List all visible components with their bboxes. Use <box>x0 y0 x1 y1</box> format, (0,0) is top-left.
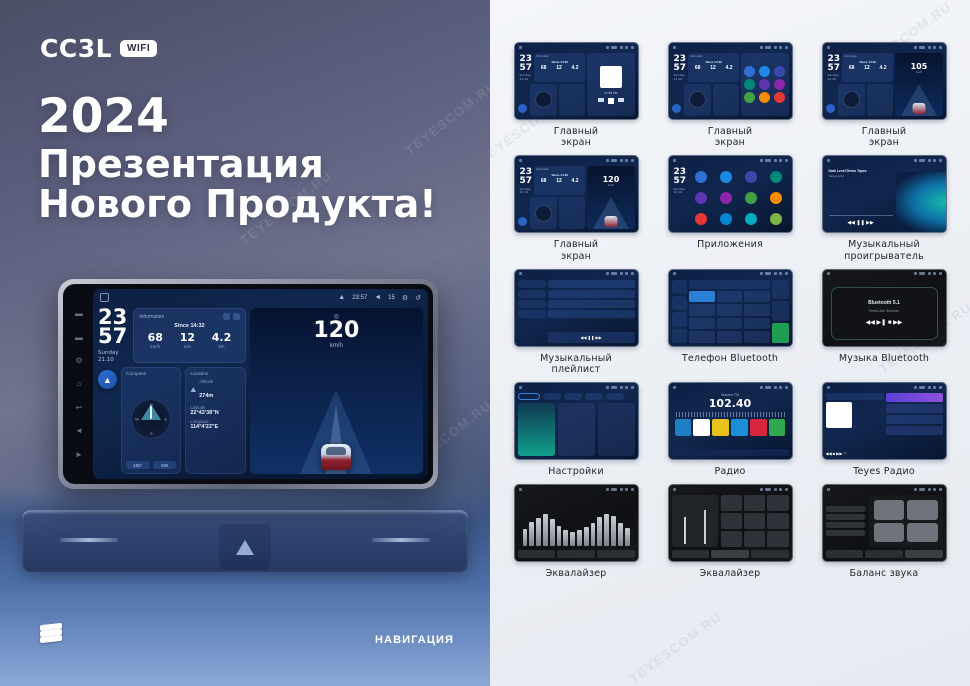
app-icon[interactable] <box>720 192 732 204</box>
radio-preset[interactable] <box>731 419 748 436</box>
wifi-icon <box>760 159 763 162</box>
home-icon <box>827 46 830 49</box>
app-icon[interactable] <box>745 171 757 183</box>
app-icon[interactable] <box>744 66 755 77</box>
eq-band[interactable] <box>584 527 589 547</box>
gallery-item-caption: Teyes Радио <box>853 466 915 477</box>
compass-e: E <box>164 417 167 422</box>
back-icon[interactable]: ↺ <box>415 294 421 302</box>
dialpad-key[interactable] <box>689 318 715 330</box>
gear-icon <box>779 488 782 491</box>
bt-controls[interactable]: ◀◀ ▶❚ ■ ▶▶ <box>866 319 903 326</box>
back-icon <box>939 488 942 491</box>
thumb-media-panel: 07:50 PM <box>587 53 634 116</box>
volume-icon <box>774 488 777 491</box>
playlist-row[interactable] <box>548 280 635 288</box>
eq-band[interactable] <box>563 530 568 547</box>
thumb-status-bar <box>515 270 638 278</box>
metric-value: 68 <box>148 331 163 344</box>
wifi-icon <box>914 46 917 49</box>
wifi-icon <box>914 488 917 491</box>
eq-preset-key[interactable] <box>744 531 765 547</box>
app-icon[interactable] <box>720 171 732 183</box>
eq-band[interactable] <box>543 514 548 547</box>
eq-tab[interactable] <box>518 550 556 558</box>
back-icon <box>785 386 788 389</box>
station-row[interactable] <box>886 426 943 435</box>
volume-down-button[interactable]: ◄ <box>74 426 84 436</box>
thumbnail-balance[interactable] <box>822 484 947 562</box>
settings-tab[interactable] <box>606 393 624 400</box>
wifi-tile[interactable] <box>518 403 555 456</box>
clock-icon <box>919 272 925 275</box>
volume-icon <box>620 488 623 491</box>
gallery-item: 2357 Sunday21.10 Information Since 14:32… <box>502 155 650 261</box>
gear-icon <box>779 46 782 49</box>
clock-icon <box>919 46 925 49</box>
thumbnail-home-nav[interactable]: 2357 Sunday21.10 Information Since 14:32… <box>514 155 639 233</box>
gallery-item-caption: Баланс звука <box>850 568 919 579</box>
gear-icon <box>625 386 628 389</box>
navigation-fab[interactable]: ▲ <box>98 370 117 389</box>
compass-needle <box>150 406 152 419</box>
eq-band[interactable] <box>536 518 541 546</box>
eq-preset-key[interactable] <box>721 495 742 511</box>
dialpad-key[interactable] <box>717 318 743 330</box>
expand-icon[interactable] <box>233 313 240 320</box>
metric-unit: min <box>180 344 195 349</box>
thumbnail-home-nav-red[interactable]: 2357 Sunday21.10 Information Since 14:32… <box>822 42 947 120</box>
call-button[interactable] <box>772 323 788 343</box>
gallery-item-caption: Эквалайзер <box>700 568 761 579</box>
latitude-value: 22°42'38"N <box>190 410 240 416</box>
wifi-icon <box>760 46 763 49</box>
balance-preset[interactable] <box>826 530 866 536</box>
gallery-item: Bluetooth 5.1 Feels Like Summer ◀◀ ▶❚ ■ … <box>810 269 958 375</box>
hazard-triangle-icon <box>236 540 254 555</box>
hero-line1: Презентация <box>38 145 437 185</box>
thumb-body: Dark Level Demo Tapes Various Artist ◀◀ … <box>823 164 946 232</box>
settings-tab[interactable] <box>518 393 540 400</box>
home-icon <box>827 272 830 275</box>
eq-preset-key[interactable] <box>767 531 788 547</box>
eq-preset-key[interactable] <box>744 513 765 529</box>
home-icon[interactable]: ⌂ <box>74 379 84 389</box>
metric-time: 12 min <box>180 331 195 349</box>
eq-tab[interactable] <box>751 550 789 558</box>
gallery-item: 2357 Sunday21.10Приложения <box>656 155 804 261</box>
thumbnail-music-player[interactable]: Dark Level Demo Tapes Various Artist ◀◀ … <box>822 155 947 233</box>
back-icon <box>785 46 788 49</box>
location-widget[interactable]: Location ⛰ Altitude 274m <box>185 367 245 474</box>
app-icon[interactable] <box>744 79 755 90</box>
eq-preset-key[interactable] <box>721 531 742 547</box>
radio-frequency: 102.40 <box>672 397 789 410</box>
wifi-badge: WIFI <box>120 40 157 57</box>
app-icon[interactable] <box>770 171 782 183</box>
album-art <box>826 402 852 428</box>
volume-icon <box>928 386 931 389</box>
gear-icon[interactable] <box>223 313 230 320</box>
gear-icon <box>933 386 936 389</box>
eq-band[interactable] <box>625 528 630 547</box>
dialpad-key[interactable] <box>689 331 715 343</box>
gear-icon <box>933 46 936 49</box>
gear-icon <box>933 159 936 162</box>
thumbnail-settings[interactable] <box>514 382 639 460</box>
bt-music-card: Bluetooth 5.1 Feels Like Summer ◀◀ ▶❚ ■ … <box>831 287 938 340</box>
mute-button[interactable]: ▬ <box>74 332 84 342</box>
head-unit-screen[interactable]: ▲ 23:57 ◄ 15 ⚙ ↺ <box>93 289 428 479</box>
eq-slider[interactable] <box>704 510 706 545</box>
dialpad-key[interactable] <box>717 304 743 316</box>
gallery-item-caption: Музыкальныйплейлист <box>540 353 612 375</box>
page-title: 2024 Презентация Нового Продукта! <box>38 92 437 225</box>
thumb-status-bar <box>669 383 792 391</box>
volume-up-button[interactable]: ► <box>74 449 84 459</box>
thumbnail-home-apps[interactable]: 2357 Sunday21.10 Information Since 14:32… <box>668 42 793 120</box>
radio-preset[interactable] <box>769 419 786 436</box>
head-unit: ▬ ▬ ⚙ ⌂ ↩ ◄ ► ▲ 23:57 <box>58 279 438 489</box>
equalizer-simple-body <box>672 495 789 558</box>
phone-sidebar <box>672 280 687 343</box>
volume-icon: ◄ <box>374 294 381 301</box>
volume-icon <box>928 46 931 49</box>
dialpad-key[interactable] <box>744 291 770 303</box>
eq-slider[interactable] <box>684 517 686 545</box>
dialpad-key[interactable] <box>717 331 743 343</box>
app-icon[interactable] <box>745 192 757 204</box>
power-button[interactable]: ▬ <box>74 309 84 319</box>
radio-presets <box>672 419 789 436</box>
eq-band[interactable] <box>557 526 562 547</box>
back-icon <box>785 488 788 491</box>
app-icon[interactable] <box>770 192 782 204</box>
thumbnail-home-media[interactable]: 2357 Sunday21.10 Information Since 14:32… <box>514 42 639 120</box>
navigation-fab[interactable] <box>826 104 835 113</box>
thumb-status-bar <box>823 485 946 493</box>
gear-icon <box>933 488 936 491</box>
home-icon[interactable] <box>100 293 109 302</box>
thumb-info-card: Information Since 14:32 68 12 4.2 <box>534 166 585 195</box>
thumb-status-bar <box>515 43 638 51</box>
volume-icon <box>928 159 931 162</box>
thumb-body: Stauton FM 102.40 <box>669 391 792 459</box>
vent-slot <box>372 538 430 542</box>
metric-distance: 4.2 km <box>212 331 232 349</box>
gallery-item: ◀◀ ❚❚ ▶▶Музыкальныйплейлист <box>502 269 650 375</box>
gallery-item-caption: Телефон Bluetooth <box>682 353 778 364</box>
gallery-item-caption: Радио <box>714 466 745 477</box>
app-icon[interactable] <box>759 92 770 103</box>
app-icon[interactable] <box>720 213 732 225</box>
playlist-row[interactable] <box>548 290 635 298</box>
eq-band[interactable] <box>611 516 616 546</box>
left-column: 23 57 Sunday 21.10 <box>98 308 246 474</box>
thumb-compass <box>684 84 711 116</box>
status-time: 23:57 <box>352 295 367 301</box>
app-icon[interactable] <box>695 192 707 204</box>
clock-icon <box>919 386 925 389</box>
gallery-item-caption: Главныйэкран <box>554 239 599 261</box>
balance-pad[interactable] <box>869 495 942 547</box>
playlist-row[interactable] <box>548 310 635 318</box>
dialpad-key[interactable] <box>689 291 715 303</box>
balance-preset[interactable] <box>826 522 866 528</box>
thumb-player-info: Dark Level Demo Tapes Various Artist ◀◀ … <box>826 166 896 229</box>
thumb-compass <box>530 84 557 116</box>
back-icon <box>785 159 788 162</box>
compass-widget[interactable]: Compass N E S <box>121 367 181 474</box>
bt-track: Feels Like Summer <box>869 309 899 313</box>
altitude-label: Altitude <box>199 379 213 384</box>
eq-preset-key[interactable] <box>767 513 788 529</box>
since-label: Since 14:32 <box>139 323 239 329</box>
clock-icon <box>765 488 771 491</box>
thumb-status-bar <box>515 383 638 391</box>
product-logo: CC3L WIFI <box>40 34 157 63</box>
eq-band[interactable] <box>604 514 609 547</box>
eq-preset-key[interactable] <box>744 495 765 511</box>
back-icon <box>939 159 942 162</box>
thumbnail-apps[interactable]: 2357 Sunday21.10 <box>668 155 793 233</box>
home-icon <box>673 386 676 389</box>
speaker-icon <box>874 523 904 543</box>
volume-icon <box>774 272 777 275</box>
home-icon <box>673 46 676 49</box>
car-windshield <box>326 447 346 455</box>
dialpad-key[interactable] <box>744 304 770 316</box>
eq-band[interactable] <box>577 530 582 546</box>
dialpad <box>689 280 770 343</box>
dialpad-key[interactable] <box>744 318 770 330</box>
app-icon[interactable] <box>744 92 755 103</box>
thumbnail-bt-phone[interactable] <box>668 269 793 347</box>
screen-content: 23 57 Sunday 21.10 <box>93 306 428 479</box>
navigation-speed-widget[interactable]: ◎ 120 km/h <box>250 308 423 474</box>
home-icon <box>827 386 830 389</box>
app-icon[interactable] <box>770 213 782 225</box>
compass-n: N <box>150 402 153 407</box>
thumb-body: 2357 Sunday21.10 Information Since 14:32… <box>515 51 638 119</box>
eq-band[interactable] <box>618 523 623 547</box>
thumb-compass <box>530 197 557 229</box>
information-card[interactable]: Information Since 14:32 <box>133 308 245 363</box>
thumbnail-playlist[interactable]: ◀◀ ❚❚ ▶▶ <box>514 269 639 347</box>
settings-tab[interactable] <box>564 393 582 400</box>
station-row[interactable] <box>886 415 943 424</box>
playlist-sidebar <box>518 280 546 343</box>
thumb-body: 2357 Sunday21.10 Information Since 14:32… <box>669 51 792 119</box>
clock-icon <box>611 159 617 162</box>
settings-body <box>518 393 635 456</box>
clock-icon <box>611 386 617 389</box>
thumb-status-bar <box>515 156 638 164</box>
app-icon[interactable] <box>759 66 770 77</box>
thumb-body: 2357 Sunday21.10 <box>669 164 792 232</box>
presentation-page: TEYESCOM.RU TEYESCOM.RU TEYESCOM.RU TEYE… <box>0 0 970 686</box>
watermark: TEYESCOM.RU <box>626 609 724 686</box>
dialpad-key[interactable] <box>744 331 770 343</box>
thumb-status-bar <box>823 156 946 164</box>
balance-tab[interactable] <box>826 550 864 558</box>
home-icon <box>673 159 676 162</box>
gear-icon <box>779 386 782 389</box>
thumb-status-bar <box>823 383 946 391</box>
clock-icon <box>765 46 771 49</box>
navigation-fab[interactable] <box>672 104 681 113</box>
home-icon <box>519 46 522 49</box>
speed-value: 120 <box>313 320 359 342</box>
thumb-nav-panel: 120 km/h <box>587 166 634 229</box>
clock-and-info: 23 57 Sunday 21.10 <box>98 308 246 363</box>
clock-day: Sunday <box>98 350 127 357</box>
thumb-body <box>515 493 638 561</box>
thumbnail-bt-music[interactable]: Bluetooth 5.1 Feels Like Summer ◀◀ ▶❚ ■ … <box>822 269 947 347</box>
thumbnail-teyes-radio[interactable]: ◀◀ ■ ▶▶ ♡ <box>822 382 947 460</box>
metric-value: 12 <box>180 331 195 344</box>
metric-speed: 68 km/h <box>148 331 163 349</box>
gallery-item-caption: Приложения <box>697 239 763 250</box>
head-unit-bezel: ▬ ▬ ⚙ ⌂ ↩ ◄ ► ▲ 23:57 <box>58 279 438 489</box>
teyes-now-playing: ◀◀ ■ ▶▶ ♡ <box>826 393 885 456</box>
logo-text: CC3L <box>40 34 112 63</box>
gallery-item: Dark Level Demo Tapes Various Artist ◀◀ … <box>810 155 958 261</box>
navigation-fab[interactable] <box>518 217 527 226</box>
app-icon[interactable] <box>745 213 757 225</box>
back-icon <box>939 272 942 275</box>
eq-band[interactable] <box>523 529 528 547</box>
settings-tab[interactable] <box>585 393 603 400</box>
gear-icon[interactable]: ⚙ <box>402 294 408 302</box>
volume-icon <box>928 272 931 275</box>
eq-band[interactable] <box>591 523 596 547</box>
balance-preset[interactable] <box>826 514 866 520</box>
teyes-station-list <box>886 393 943 456</box>
radio-preset[interactable] <box>675 419 692 436</box>
thumbnail-eq-simple[interactable] <box>668 484 793 562</box>
radio-toolbar[interactable] <box>672 449 789 456</box>
gear-icon <box>625 159 628 162</box>
eq-presets <box>721 495 788 547</box>
hazard-light-button[interactable] <box>219 524 271 570</box>
balance-preset[interactable] <box>826 506 866 512</box>
screenshot-gallery: TEYESCOM.RU TEYESCOM.RU TEYESCOM.RU TEYE… <box>490 0 970 686</box>
carplay-tile[interactable] <box>558 403 595 456</box>
gear-icon[interactable]: ⚙ <box>74 356 84 366</box>
eq-preset-key[interactable] <box>721 513 742 529</box>
thumb-info-card: Information Since 14:32 68 12 4.2 <box>534 53 585 82</box>
wifi-icon <box>606 46 609 49</box>
dialpad-key[interactable] <box>689 304 715 316</box>
eq-bands <box>518 495 635 550</box>
station-row[interactable] <box>886 393 943 402</box>
radio-preset[interactable] <box>693 419 710 436</box>
eq-tab[interactable] <box>557 550 595 558</box>
wifi-icon <box>914 386 917 389</box>
clock-icon <box>611 46 617 49</box>
gallery-item: Эквалайзер <box>502 484 650 579</box>
eq-band[interactable] <box>550 519 555 546</box>
balance-tab[interactable] <box>865 550 903 558</box>
thumb-compass <box>838 84 865 116</box>
location-title: Location <box>190 372 240 377</box>
radio-body: Stauton FM 102.40 <box>672 393 789 456</box>
volume-icon <box>774 386 777 389</box>
clock-icon <box>611 488 617 491</box>
app-icon[interactable] <box>774 92 785 103</box>
thumb-clock: 2357 Sunday21.10 <box>518 166 533 195</box>
back-icon <box>785 272 788 275</box>
back-icon <box>939 386 942 389</box>
wifi-icon <box>606 272 609 275</box>
eq-band[interactable] <box>529 522 534 546</box>
gallery-item: Баланс звука <box>810 484 958 579</box>
wifi-icon <box>760 386 763 389</box>
wifi-icon <box>760 488 763 491</box>
gear-icon <box>779 159 782 162</box>
clock-icon <box>611 272 617 275</box>
thumb-body: 2357 Sunday21.10 Information Since 14:32… <box>823 51 946 119</box>
eq-tab[interactable] <box>597 550 635 558</box>
gallery-item: Настройки <box>502 382 650 477</box>
thumbnail-radio[interactable]: Stauton FM 102.40 <box>668 382 793 460</box>
wifi-icon <box>760 272 763 275</box>
eq-tab[interactable] <box>711 550 749 558</box>
volume-icon <box>774 159 777 162</box>
thumb-body <box>823 493 946 561</box>
speaker-icon <box>907 500 937 520</box>
thumbnail-eq-bars[interactable] <box>514 484 639 562</box>
clock-icon <box>919 488 925 491</box>
eq-band[interactable] <box>570 532 575 546</box>
wifi-icon <box>914 272 917 275</box>
radio-preset[interactable] <box>750 419 767 436</box>
bezel-button-strip[interactable]: ▬ ▬ ⚙ ⌂ ↩ ◄ ► <box>67 296 91 472</box>
balance-body <box>826 495 943 558</box>
app-icon[interactable] <box>774 66 785 77</box>
dialpad-key[interactable] <box>717 291 743 303</box>
station-row[interactable] <box>886 404 943 413</box>
equalizer-body <box>518 495 635 558</box>
thumb-nav-panel: 105 km/h <box>895 53 942 116</box>
clock-widget[interactable]: 23 57 Sunday 21.10 <box>98 308 127 363</box>
thumb-app-panel <box>741 53 788 116</box>
volume-icon <box>620 272 623 275</box>
balance-tab[interactable] <box>905 550 943 558</box>
gear-icon <box>933 272 936 275</box>
eq-tab[interactable] <box>672 550 710 558</box>
home-icon <box>519 488 522 491</box>
app-icon[interactable] <box>695 171 707 183</box>
eq-preset-key[interactable] <box>767 495 788 511</box>
app-icon[interactable] <box>774 79 785 90</box>
settings-tab[interactable] <box>543 393 561 400</box>
playlist-row[interactable] <box>548 300 635 308</box>
radio-preset[interactable] <box>712 419 729 436</box>
home-icon <box>827 159 830 162</box>
app-icon[interactable] <box>695 213 707 225</box>
navigation-label: НАВИГАЦИЯ <box>375 634 454 646</box>
navigation-fab[interactable] <box>518 104 527 113</box>
back-icon[interactable]: ↩ <box>74 402 84 412</box>
radio-dial[interactable] <box>676 412 785 417</box>
compass-w: W <box>135 417 139 422</box>
eq-band[interactable] <box>597 517 602 546</box>
app-icon[interactable] <box>759 79 770 90</box>
thumb-status-bar <box>823 43 946 51</box>
more-tile[interactable] <box>598 403 635 456</box>
